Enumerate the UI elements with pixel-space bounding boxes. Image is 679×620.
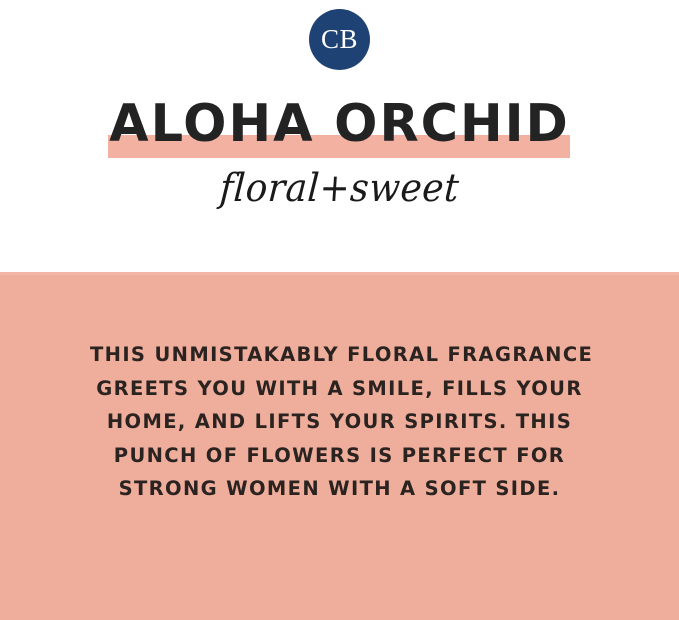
- page-title: ALOHA ORCHID: [7, 96, 672, 152]
- product-fragrance-card: CB ALOHA ORCHID floral+sweet THIS UNMIST…: [0, 0, 679, 620]
- description-line: STRONG WOMEN WITH A SOFT SIDE.: [90, 472, 589, 506]
- panel-top-edge: [0, 272, 679, 275]
- title-block: ALOHA ORCHID: [0, 96, 679, 162]
- description-line: PUNCH OF FLOWERS IS PERFECT FOR: [90, 439, 589, 473]
- description-line: THIS UNMISTAKABLY FLORAL FRAGRANCE: [90, 338, 589, 372]
- tagline-script: floral+sweet: [0, 163, 679, 215]
- brand-logo: CB: [309, 9, 370, 70]
- description-text: THIS UNMISTAKABLY FLORAL FRAGRANCE GREET…: [90, 338, 589, 506]
- description-line: GREETS YOU WITH A SMILE, FILLS YOUR: [90, 372, 589, 406]
- description-panel: THIS UNMISTAKABLY FLORAL FRAGRANCE GREET…: [0, 272, 679, 620]
- card-header-section: CB ALOHA ORCHID floral+sweet: [0, 0, 679, 272]
- description-line: HOME, AND LIFTS YOUR SPIRITS. THIS: [90, 405, 589, 439]
- brand-logo-initials: CB: [321, 26, 358, 53]
